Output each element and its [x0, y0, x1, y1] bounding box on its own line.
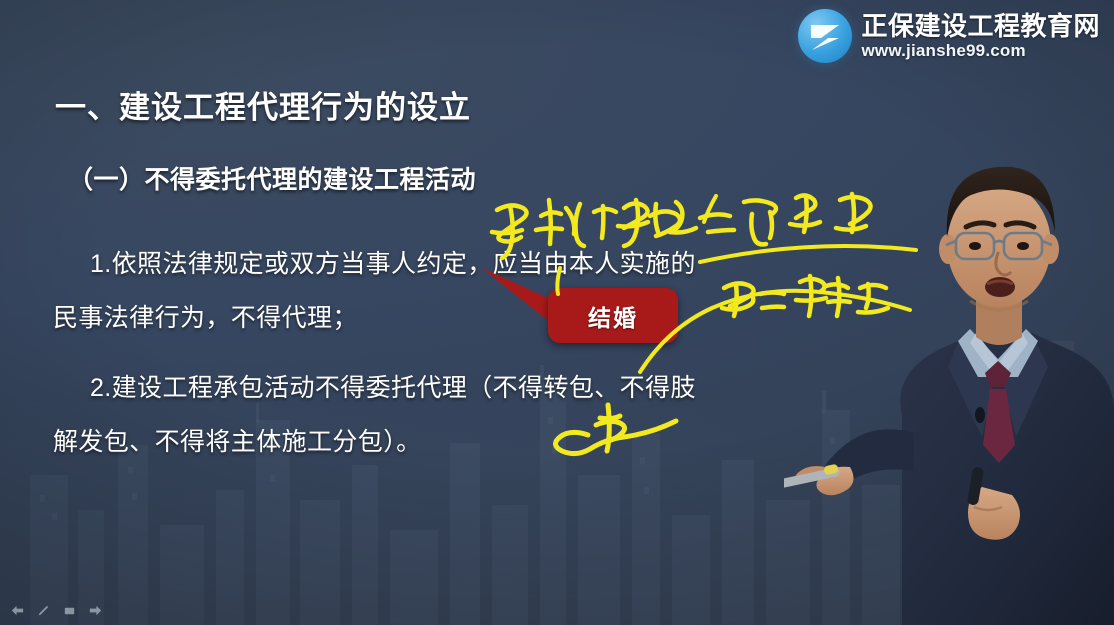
arrow-right-icon[interactable] [88, 603, 103, 618]
pen-icon[interactable] [36, 603, 51, 618]
callout-box-marriage[interactable]: 结婚 [548, 288, 678, 343]
site-logo: 正保建设工程教育网 www.jianshe99.com [792, 6, 1106, 66]
paragraph-1-line-1: 1.依照法律规定或双方当事人约定，应当由本人实施的 [90, 244, 696, 280]
paragraph-1-line-2: 民事法律行为，不得代理； [53, 298, 358, 334]
annotation-toolbar[interactable] [6, 601, 107, 620]
slide-heading: 一、建设工程代理行为的设立 [55, 82, 471, 127]
logo-text-block: 正保建设工程教育网 www.jianshe99.com [861, 13, 1100, 59]
logo-website-url: www.jianshe99.com [861, 42, 1100, 59]
slide-subheading: （一）不得委托代理的建设工程活动 [68, 160, 476, 196]
slide-text-body: 一、建设工程代理行为的设立 （一）不得委托代理的建设工程活动 1.依照法律规定或… [0, 0, 900, 625]
logo-company-name: 正保建设工程教育网 [861, 13, 1100, 39]
zhengbao-z-logo-icon [798, 9, 852, 63]
eraser-icon[interactable] [62, 603, 77, 618]
paragraph-2-line-1: 2.建设工程承包活动不得委托代理（不得转包、不得肢 [90, 368, 696, 404]
lecture-slide-screen: 一、建设工程代理行为的设立 （一）不得委托代理的建设工程活动 1.依照法律规定或… [0, 0, 1114, 625]
paragraph-2-line-2: 解发包、不得将主体施工分包）。 [53, 422, 422, 458]
arrow-left-icon[interactable] [10, 603, 25, 618]
callout-label: 结婚 [588, 299, 638, 333]
